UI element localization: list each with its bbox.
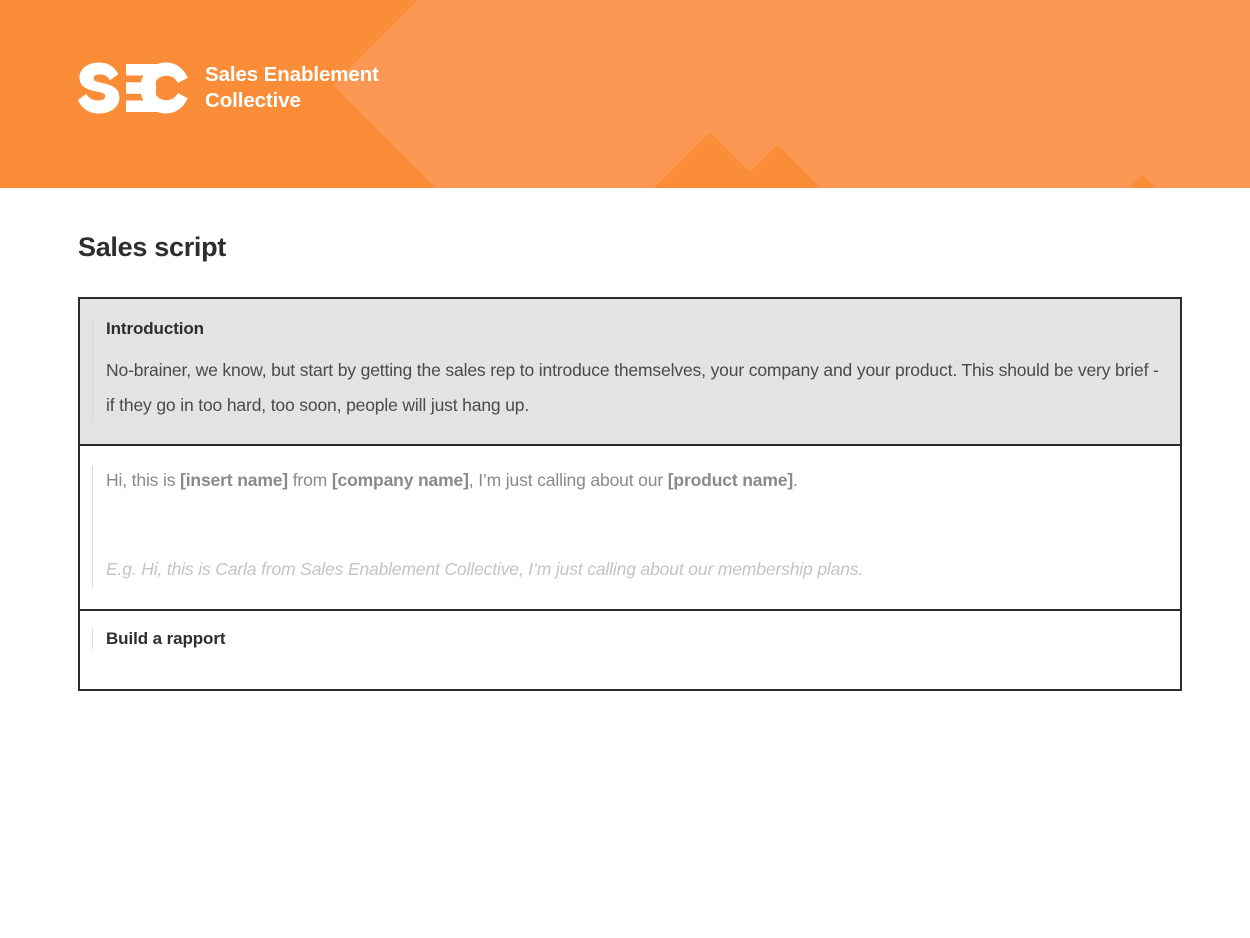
script-cell: Hi, this is [insert name] from [company … — [79, 445, 1181, 610]
brand-logo: Sales Enablement Collective — [78, 62, 379, 114]
cell-inner: Hi, this is [insert name] from [company … — [92, 466, 1168, 587]
diamond-shape — [1113, 0, 1250, 188]
script-placeholder: [company name] — [332, 470, 469, 490]
script-text: from — [288, 470, 332, 490]
diamond-shape — [333, 0, 757, 188]
brand-wordmark: Sales Enablement Collective — [205, 62, 379, 114]
script-placeholder: [product name] — [668, 470, 793, 490]
page-header-banner: Sales Enablement Collective — [0, 0, 1250, 188]
page-title: Sales script — [78, 232, 1172, 263]
sales-script-table-container: Introduction No-brainer, we know, but st… — [78, 297, 1182, 787]
section-description: No-brainer, we know, but start by gettin… — [93, 353, 1168, 422]
table-row: Hi, this is [insert name] from [company … — [79, 445, 1181, 610]
section-header-cell: Introduction No-brainer, we know, but st… — [79, 298, 1181, 445]
table-row: Build a rapport — [79, 610, 1181, 690]
diamond-shape — [978, 0, 1250, 188]
section-header-cell-next: Build a rapport — [79, 610, 1181, 690]
script-text: Hi, this is — [106, 470, 180, 490]
sales-script-table: Introduction No-brainer, we know, but st… — [78, 297, 1182, 691]
diamond-shape — [763, 0, 1187, 188]
script-text: . — [793, 470, 798, 490]
script-example: E.g. Hi, this is Carla from Sales Enable… — [93, 552, 1168, 587]
cell-inner: Introduction No-brainer, we know, but st… — [92, 319, 1168, 422]
script-line: Hi, this is [insert name] from [company … — [93, 466, 1168, 494]
diamond-shape — [538, 0, 962, 172]
script-text: , I’m just calling about our — [469, 470, 668, 490]
section-title: Introduction — [93, 319, 1168, 339]
sec-monogram-logo-icon — [78, 62, 188, 114]
table-row: Introduction No-brainer, we know, but st… — [79, 298, 1181, 445]
page-content: Sales script Introduction No-brainer, we… — [0, 232, 1250, 787]
cell-inner: Build a rapport — [92, 629, 1168, 649]
section-title: Build a rapport — [93, 629, 1168, 649]
script-placeholder: [insert name] — [180, 470, 288, 490]
